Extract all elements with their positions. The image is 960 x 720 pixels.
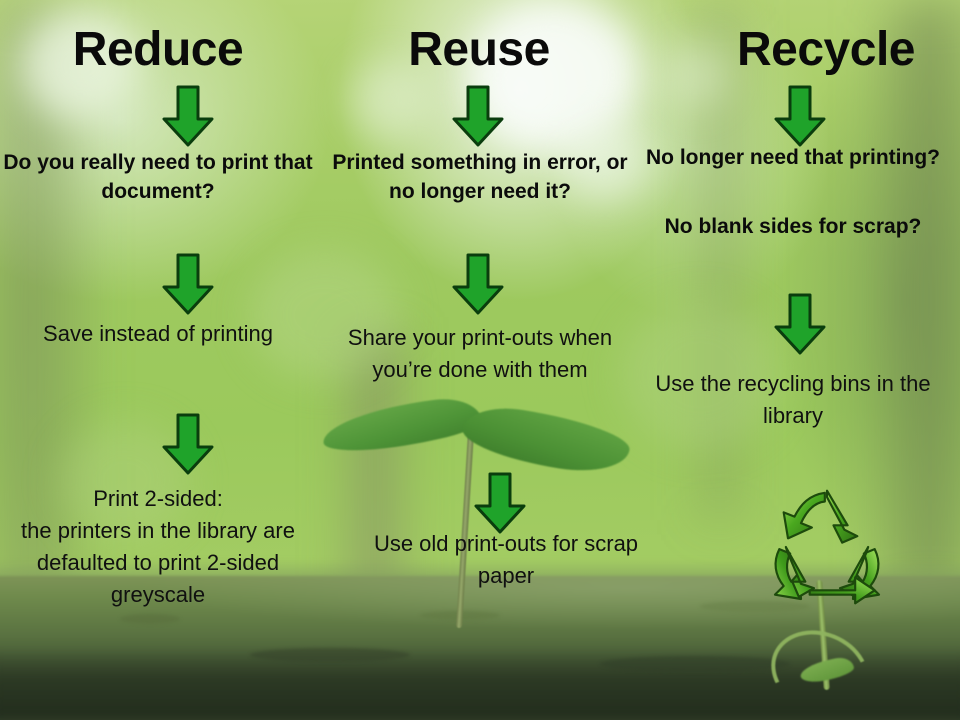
down-arrow-icon [160, 253, 216, 315]
poster-canvas: Reduce Do you really need to print that … [0, 0, 960, 720]
down-arrow-icon [450, 85, 506, 147]
down-arrow-icon [472, 472, 528, 534]
answer-text-reuse-1: Share your print-outs when you’re done w… [332, 322, 628, 386]
question-text-reuse: Printed something in error, or no longer… [332, 148, 628, 206]
down-arrow-icon [450, 253, 506, 315]
question-text-reduce: Do you really need to print that documen… [0, 148, 328, 206]
down-arrow-icon [160, 85, 216, 147]
heading-reuse: Reuse [339, 26, 619, 74]
answer-text-reuse-2: Use old print-outs for scrap paper [358, 528, 654, 592]
heading-recycle: Recycle [656, 26, 960, 74]
down-arrow-icon [772, 293, 828, 355]
column-recycle: Recycle No longer need that printing? No… [620, 0, 960, 720]
down-arrow-icon [160, 413, 216, 475]
answer-text-recycle: Use the recycling bins in the library [638, 368, 948, 432]
answer-text-reduce-1: Save instead of printing [0, 318, 328, 350]
answer-text-reduce-2: Print 2-sided: the printers in the libra… [0, 483, 328, 611]
question-text-recycle-1: No longer need that printing? [638, 143, 948, 172]
content-columns: Reduce Do you really need to print that … [0, 0, 960, 720]
column-reuse: Reuse Printed something in error, or no … [340, 0, 620, 720]
column-reduce: Reduce Do you really need to print that … [0, 0, 340, 720]
heading-reduce: Reduce [0, 26, 328, 74]
down-arrow-icon [772, 85, 828, 147]
question-text-recycle-2: No blank sides for scrap? [638, 212, 948, 241]
